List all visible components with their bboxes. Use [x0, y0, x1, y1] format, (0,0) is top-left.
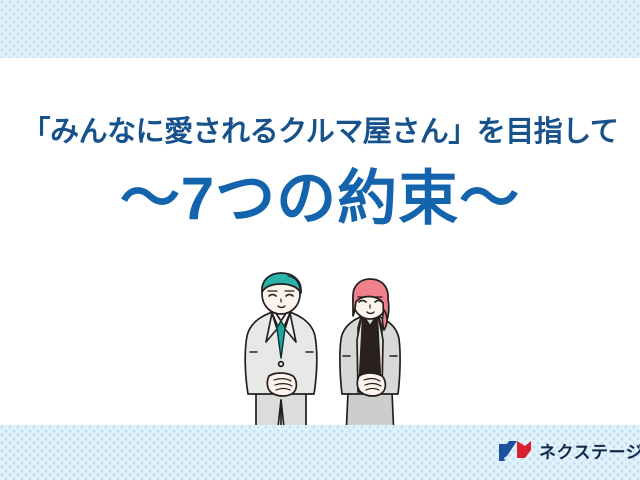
headline-block: 「みんなに愛されるクルマ屋さん」を目指して 〜7つの約束〜 — [0, 118, 640, 229]
top-dot-band — [0, 0, 640, 58]
brand-logo-text: ネクステージ — [539, 438, 640, 463]
headline-main-text: 「みんなに愛されるクルマ屋さん」を目指して — [0, 118, 640, 147]
female-staff-figure — [340, 279, 400, 437]
headline-sub-text: 〜7つの約束〜 — [0, 169, 640, 229]
promo-banner: 「みんなに愛されるクルマ屋さん」を目指して 〜7つの約束〜 — [0, 0, 640, 480]
nextage-n-mark-icon — [498, 439, 532, 463]
male-staff-figure — [245, 273, 317, 437]
bowing-staff-illustration — [236, 272, 426, 437]
staff-illustration-svg — [236, 272, 426, 437]
brand-logo: ネクステージ — [498, 438, 640, 463]
